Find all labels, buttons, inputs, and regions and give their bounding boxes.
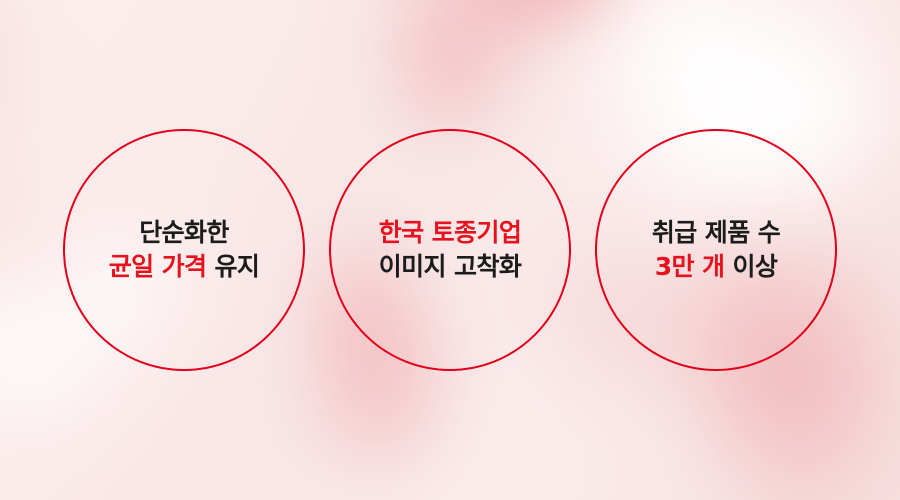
text-segment: 유지 bbox=[206, 252, 259, 281]
text-segment: 균일 가격 bbox=[109, 252, 207, 281]
circle-2-line-1: 한국 토종기업 bbox=[379, 216, 522, 251]
text-segment: 단순화한 bbox=[139, 218, 229, 247]
text-segment: 취급 제품 수 bbox=[652, 218, 780, 247]
text-segment: 한국 토종기업 bbox=[379, 218, 522, 247]
circle-1-line-2: 균일 가격 유지 bbox=[109, 250, 260, 285]
text-segment: 3만 개 bbox=[655, 252, 725, 281]
infographic-stage: 단순화한 균일 가격 유지 한국 토종기업 이미지 고착화 취급 제품 수 3만… bbox=[0, 0, 900, 500]
circle-1-line-1: 단순화한 bbox=[139, 216, 229, 251]
circle-group: 단순화한 균일 가격 유지 한국 토종기업 이미지 고착화 취급 제품 수 3만… bbox=[0, 0, 900, 500]
circle-uniform-price: 단순화한 균일 가격 유지 bbox=[63, 129, 305, 371]
circle-3-line-2: 3만 개 이상 bbox=[655, 250, 778, 285]
circle-3-line-1: 취급 제품 수 bbox=[652, 216, 780, 251]
text-segment: 이상 bbox=[724, 252, 777, 281]
circle-product-count: 취급 제품 수 3만 개 이상 bbox=[595, 129, 837, 371]
text-segment: 이미지 고착화 bbox=[379, 252, 522, 281]
circle-2-line-2: 이미지 고착화 bbox=[379, 250, 522, 285]
circle-korean-native-company: 한국 토종기업 이미지 고착화 bbox=[329, 129, 571, 371]
